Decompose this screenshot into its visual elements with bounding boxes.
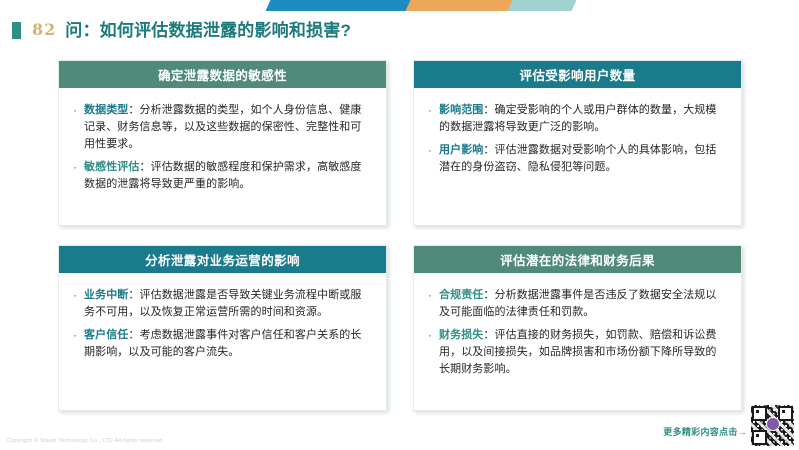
qr-code[interactable] bbox=[751, 405, 794, 446]
top-decorative-banner bbox=[0, 0, 799, 11]
card-body: · 影响范围：确定受影响的个人或用户群体的数量，大规模的数据泄露将导致更广泛的影… bbox=[414, 88, 741, 225]
bullet-dot-icon: · bbox=[428, 287, 434, 304]
list-item: · 用户影响：评估泄露数据对受影响个人的具体影响，包括潜在的身份盗窃、隐私侵犯等… bbox=[428, 142, 725, 176]
list-item-text: 用户影响：评估泄露数据对受影响个人的具体影响，包括潜在的身份盗窃、隐私侵犯等问题… bbox=[439, 142, 725, 176]
card-header: 评估受影响用户数量 bbox=[414, 61, 741, 88]
card-affected-users: 评估受影响用户数量 · 影响范围：确定受影响的个人或用户群体的数量，大规模的数据… bbox=[413, 60, 742, 226]
card-grid: 确定泄露数据的敏感性 · 数据类型：分析泄露数据的类型，如个人身份信息、健康记录… bbox=[58, 60, 742, 411]
list-item: · 影响范围：确定受影响的个人或用户群体的数量，大规模的数据泄露将导致更广泛的影… bbox=[428, 102, 725, 136]
bullet-dot-icon: · bbox=[73, 327, 79, 344]
list-item-lead: 客户信任 bbox=[84, 329, 128, 341]
list-item-lead: 业务中断 bbox=[84, 289, 128, 301]
card-header: 分析泄露对业务运营的影响 bbox=[59, 246, 386, 273]
list-item: · 敏感性评估：评估数据的敏感程度和保护需求，高敏感度数据的泄露将导致更严重的影… bbox=[73, 159, 370, 193]
qr-finder-top-left-icon bbox=[752, 406, 767, 421]
card-legal-financial: 评估潜在的法律和财务后果 · 合规责任：分析数据泄露事件是否违反了数据安全法规以… bbox=[413, 245, 742, 411]
list-item-text: 数据类型：分析泄露数据的类型，如个人身份信息、健康记录、财务信息等，以及这些数据… bbox=[84, 102, 370, 153]
qr-finder-top-right-icon bbox=[778, 406, 793, 421]
card-header: 评估潜在的法律和财务后果 bbox=[414, 246, 741, 273]
list-item-lead: 数据类型 bbox=[84, 104, 128, 116]
list-item-lead: 合规责任 bbox=[439, 289, 483, 301]
list-item: · 数据类型：分析泄露数据的类型，如个人身份信息、健康记录、财务信息等，以及这些… bbox=[73, 102, 370, 153]
list-item-lead: 影响范围 bbox=[439, 104, 483, 116]
list-item: · 财务损失：评估直接的财务损失，如罚款、赔偿和诉讼费用，以及间接损失，如品牌损… bbox=[428, 327, 725, 378]
slide-number: 82 bbox=[32, 22, 56, 38]
banner-band-teal bbox=[508, 0, 577, 11]
list-item-lead: 用户影响 bbox=[439, 144, 483, 156]
title-bullet-square-icon bbox=[12, 22, 21, 39]
slide-title-row: 82 问：如何评估数据泄露的影响和损害? bbox=[12, 17, 351, 43]
bullet-dot-icon: · bbox=[73, 102, 79, 119]
card-body: · 业务中断：评估数据泄露是否导致关键业务流程中断或服务不可用，以及恢复正常运营… bbox=[59, 273, 386, 410]
list-item-text: 业务中断：评估数据泄露是否导致关键业务流程中断或服务不可用，以及恢复正常运营所需… bbox=[84, 287, 370, 321]
bullet-dot-icon: · bbox=[428, 327, 434, 344]
qr-finder-bottom-left-icon bbox=[752, 430, 767, 445]
bullet-dot-icon: · bbox=[428, 142, 434, 159]
card-header: 确定泄露数据的敏感性 bbox=[59, 61, 386, 88]
page-title: 问：如何评估数据泄露的影响和损害? bbox=[65, 22, 351, 39]
list-item-text: 财务损失：评估直接的财务损失，如罚款、赔偿和诉讼费用，以及间接损失，如品牌损害和… bbox=[439, 327, 725, 378]
list-item: · 客户信任：考虑数据泄露事件对客户信任和客户关系的长期影响，以及可能的客户流失… bbox=[73, 327, 370, 361]
list-item-lead: 财务损失 bbox=[439, 329, 483, 341]
card-business-impact: 分析泄露对业务运营的影响 · 业务中断：评估数据泄露是否导致关键业务流程中断或服… bbox=[58, 245, 387, 411]
bullet-dot-icon: · bbox=[428, 102, 434, 119]
bullet-dot-icon: · bbox=[73, 159, 79, 176]
copyright-notice: Copyright © Shuze Technology Co., LTD Al… bbox=[7, 438, 164, 444]
list-item-text: 客户信任：考虑数据泄露事件对客户信任和客户关系的长期影响，以及可能的客户流失。 bbox=[84, 327, 370, 361]
list-item-text: 影响范围：确定受影响的个人或用户群体的数量，大规模的数据泄露将导致更广泛的影响。 bbox=[439, 102, 725, 136]
banner-band-blue bbox=[266, 0, 413, 11]
card-sensitivity: 确定泄露数据的敏感性 · 数据类型：分析泄露数据的类型，如个人身份信息、健康记录… bbox=[58, 60, 387, 226]
qr-center-logo-icon bbox=[766, 417, 780, 431]
list-item-text: 合规责任：分析数据泄露事件是否违反了数据安全法规以及可能面临的法律责任和罚款。 bbox=[439, 287, 725, 321]
list-item: · 合规责任：分析数据泄露事件是否违反了数据安全法规以及可能面临的法律责任和罚款… bbox=[428, 287, 725, 321]
bullet-dot-icon: · bbox=[73, 287, 79, 304]
list-item-text: 敏感性评估：评估数据的敏感程度和保护需求，高敏感度数据的泄露将导致更严重的影响。 bbox=[84, 159, 370, 193]
more-content-cta: 更多精彩内容点击→ bbox=[663, 425, 747, 438]
list-item-lead: 敏感性评估 bbox=[84, 161, 140, 173]
list-item: · 业务中断：评估数据泄露是否导致关键业务流程中断或服务不可用，以及恢复正常运营… bbox=[73, 287, 370, 321]
banner-band-orange bbox=[406, 0, 515, 11]
card-body: · 合规责任：分析数据泄露事件是否违反了数据安全法规以及可能面临的法律责任和罚款… bbox=[414, 273, 741, 410]
qr-code-image bbox=[751, 405, 794, 446]
card-body: · 数据类型：分析泄露数据的类型，如个人身份信息、健康记录、财务信息等，以及这些… bbox=[59, 88, 386, 225]
